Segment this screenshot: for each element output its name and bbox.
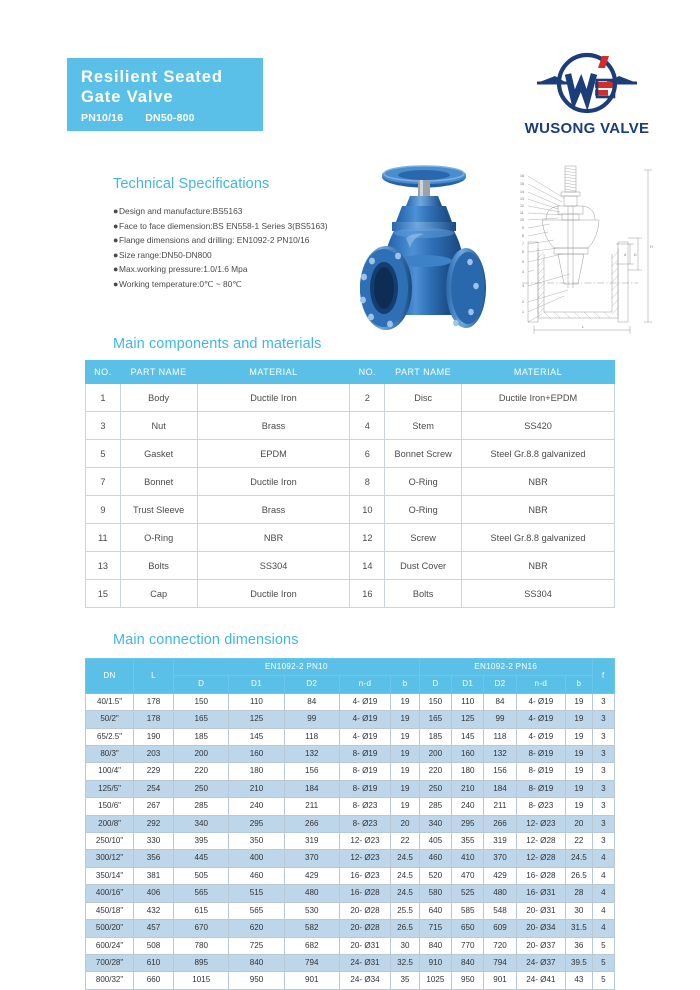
cell-pn16-d2: 429 <box>484 867 516 884</box>
cell-pn16-d2: 609 <box>484 920 516 937</box>
cell-pn16-nd: 20- Ø31 <box>516 902 566 919</box>
title-block: Resilient Seated Gate Valve PN10/16DN50-… <box>67 58 263 131</box>
table-row: 200/8"2923402952668- Ø232034029526612- Ø… <box>86 815 615 832</box>
cell-no-2: 2 <box>350 384 385 412</box>
col-f: f <box>592 659 614 694</box>
svg-text:L: L <box>582 325 584 329</box>
cell-pn16-d1: 650 <box>452 920 484 937</box>
cell-pn16-d2: 132 <box>484 746 516 763</box>
cell-material-1: SS304 <box>197 552 350 580</box>
table-row: 50/2"178165125994- Ø1919165125994- Ø1919… <box>86 711 615 728</box>
cell-pn10-d1: 725 <box>229 937 284 954</box>
cell-material-1: Ductile Iron <box>197 384 350 412</box>
cell-material-1: Ductile Iron <box>197 580 350 608</box>
table-row: 800/32"660101595090124- Ø343510259509012… <box>86 972 615 989</box>
cell-no-2: 4 <box>350 412 385 440</box>
cell-part-1: O-Ring <box>120 524 197 552</box>
table-row: 13BoltsSS30414Dust CoverNBR <box>86 552 615 580</box>
cell-pn16-b: 19 <box>566 798 593 815</box>
cell-pn16-d1: 160 <box>452 746 484 763</box>
cell-material-1: Brass <box>197 412 350 440</box>
list-item: ●Flange dimensions and drilling: EN1092-… <box>113 233 383 248</box>
cell-pn16-d1: 355 <box>452 833 484 850</box>
cell-pn10-nd: 4- Ø19 <box>339 693 390 710</box>
cell-pn10-b: 19 <box>391 693 419 710</box>
cell-pn10-d2: 901 <box>284 972 339 989</box>
spec-text: Design and manufacture:BS5163 <box>119 206 242 216</box>
cell-f: 3 <box>592 693 614 710</box>
cell-dn: 65/2.5" <box>86 728 134 745</box>
cell-f: 3 <box>592 798 614 815</box>
cell-pn16-b: 19 <box>566 763 593 780</box>
cell-pn10-d1: 950 <box>229 972 284 989</box>
section-heading-technical: Technical Specifications <box>113 176 269 192</box>
col-dn: DN <box>86 659 134 694</box>
cell-no-2: 12 <box>350 524 385 552</box>
cell-pn10-d: 505 <box>174 867 229 884</box>
cell-dn: 450/18" <box>86 902 134 919</box>
cell-dn: 40/1.5" <box>86 693 134 710</box>
cell-l: 356 <box>134 850 174 867</box>
table-row: 100/4"2292201801568- Ø19192201801568- Ø1… <box>86 763 615 780</box>
cell-pn16-b: 22 <box>566 833 593 850</box>
table-row: 9Trust SleeveBrass10O-RingNBR <box>86 496 615 524</box>
cell-part-2: Disc <box>385 384 462 412</box>
table-row: 450/18"43261556553020- Ø2825.56405855482… <box>86 902 615 919</box>
cell-dn: 100/4" <box>86 763 134 780</box>
dimensions-table: DN L EN1092-2 PN10 EN1092-2 PN16 f D D1 … <box>85 658 615 990</box>
cell-pn10-b: 20 <box>391 815 419 832</box>
cell-pn10-d1: 565 <box>229 902 284 919</box>
cell-f: 3 <box>592 780 614 797</box>
cell-material-1: EPDM <box>197 440 350 468</box>
table-row: 80/3"2032001601328- Ø19192001601328- Ø19… <box>86 746 615 763</box>
cell-pn16-d: 185 <box>419 728 451 745</box>
cell-part-1: Body <box>120 384 197 412</box>
cell-l: 330 <box>134 833 174 850</box>
cell-pn10-d1: 840 <box>229 954 284 971</box>
cell-l: 254 <box>134 780 174 797</box>
cell-pn10-d: 395 <box>174 833 229 850</box>
cell-no-2: 6 <box>350 440 385 468</box>
cell-no-1: 13 <box>86 552 121 580</box>
cell-pn16-b: 19 <box>566 711 593 728</box>
col-mat-1: MATERIAL <box>197 361 350 384</box>
table-header-row: NO. PART NAME MATERIAL NO. PART NAME MAT… <box>86 361 615 384</box>
list-item: ●Face to face diemension:BS EN558-1 Seri… <box>113 219 383 234</box>
cell-pn10-nd: 12- Ø23 <box>339 833 390 850</box>
table-row: 3NutBrass4StemSS420 <box>86 412 615 440</box>
table-row: 1BodyDuctile Iron2DiscDuctile Iron+EPDM <box>86 384 615 412</box>
cell-pn10-b: 19 <box>391 798 419 815</box>
cell-pn16-d1: 950 <box>452 972 484 989</box>
gate-valve-photo <box>344 160 504 332</box>
cell-pn16-nd: 16- Ø28 <box>516 867 566 884</box>
cell-dn: 250/10" <box>86 833 134 850</box>
cell-pn10-d: 565 <box>174 885 229 902</box>
cell-pn16-d: 150 <box>419 693 451 710</box>
cell-pn16-nd: 8- Ø19 <box>516 763 566 780</box>
cell-pn10-d: 165 <box>174 711 229 728</box>
cell-material-2: Steel Gr.8.8 galvanized <box>462 524 615 552</box>
cell-pn16-nd: 4- Ø19 <box>516 693 566 710</box>
cell-l: 203 <box>134 746 174 763</box>
table-row: 250/10"33039535031912- Ø232240535531912-… <box>86 833 615 850</box>
cell-pn16-b: 39.5 <box>566 954 593 971</box>
cell-no-1: 3 <box>86 412 121 440</box>
cell-l: 381 <box>134 867 174 884</box>
cell-pn10-d2: 582 <box>284 920 339 937</box>
svg-text:H: H <box>650 245 653 249</box>
cell-pn16-d1: 110 <box>452 693 484 710</box>
cell-l: 292 <box>134 815 174 832</box>
cell-f: 3 <box>592 815 614 832</box>
cell-material-2: SS304 <box>462 580 615 608</box>
cell-no-1: 11 <box>86 524 121 552</box>
gate-valve-section-drawing: 1615 1413 1211 109 87 65 43 21 L H D d <box>498 162 656 334</box>
cell-pn10-b: 25.5 <box>391 902 419 919</box>
cell-pn10-d1: 620 <box>229 920 284 937</box>
cell-pn10-b: 26.5 <box>391 920 419 937</box>
svg-text:15: 15 <box>520 182 524 186</box>
cell-dn: 350/14" <box>86 867 134 884</box>
cell-l: 190 <box>134 728 174 745</box>
cell-pn16-d1: 125 <box>452 711 484 728</box>
cell-pn16-b: 19 <box>566 728 593 745</box>
cell-f: 4 <box>592 867 614 884</box>
cell-f: 3 <box>592 763 614 780</box>
cell-pn16-b: 26.5 <box>566 867 593 884</box>
cell-pn10-b: 32.5 <box>391 954 419 971</box>
cell-pn16-nd: 4- Ø19 <box>516 728 566 745</box>
cell-pn16-nd: 24- Ø37 <box>516 954 566 971</box>
cell-material-2: NBR <box>462 468 615 496</box>
svg-text:11: 11 <box>520 211 524 215</box>
cell-pn16-nd: 24- Ø41 <box>516 972 566 989</box>
cell-pn16-nd: 8- Ø23 <box>516 798 566 815</box>
cell-f: 3 <box>592 746 614 763</box>
cell-pn10-d2: 319 <box>284 833 339 850</box>
cell-pn16-d2: 901 <box>484 972 516 989</box>
list-item: ●Working temperature:0℃ ~ 80℃ <box>113 277 383 292</box>
cell-part-2: Screw <box>385 524 462 552</box>
cell-pn10-d: 185 <box>174 728 229 745</box>
cell-part-2: O-Ring <box>385 496 462 524</box>
svg-text:d: d <box>624 253 626 257</box>
cell-dn: 125/5" <box>86 780 134 797</box>
cell-pn16-nd: 20- Ø34 <box>516 920 566 937</box>
cell-pn16-d: 250 <box>419 780 451 797</box>
cell-pn10-b: 30 <box>391 937 419 954</box>
cell-pn10-d: 1015 <box>174 972 229 989</box>
cell-pn16-d: 220 <box>419 763 451 780</box>
cell-no-1: 7 <box>86 468 121 496</box>
product-title-line1: Resilient Seated <box>81 67 263 87</box>
cell-f: 4 <box>592 850 614 867</box>
cell-material-2: Ductile Iron+EPDM <box>462 384 615 412</box>
cell-pn10-d2: 184 <box>284 780 339 797</box>
cell-pn10-d: 895 <box>174 954 229 971</box>
cell-material-2: Steel Gr.8.8 galvanized <box>462 440 615 468</box>
col-l: L <box>134 659 174 694</box>
cell-l: 432 <box>134 902 174 919</box>
cell-f: 3 <box>592 711 614 728</box>
cell-no-1: 5 <box>86 440 121 468</box>
cell-pn16-b: 24.5 <box>566 850 593 867</box>
section-heading-components: Main components and materials <box>113 336 321 352</box>
list-item: ●Design and manufacture:BS5163 <box>113 204 383 219</box>
cell-pn10-d2: 84 <box>284 693 339 710</box>
wusong-circle-w-logo <box>535 52 639 118</box>
cell-pn16-d2: 156 <box>484 763 516 780</box>
svg-text:8: 8 <box>522 234 524 238</box>
technical-spec-list: ●Design and manufacture:BS5163 ●Face to … <box>113 204 383 292</box>
cell-pn10-nd: 16- Ø28 <box>339 885 390 902</box>
list-item: ●Size range:DN50-DN800 <box>113 248 383 263</box>
datasheet-page: Resilient Seated Gate Valve PN10/16DN50-… <box>0 0 700 989</box>
table-row: 40/1.5"178150110844- Ø1919150110844- Ø19… <box>86 693 615 710</box>
cell-pn16-d1: 525 <box>452 885 484 902</box>
cell-pn10-d1: 210 <box>229 780 284 797</box>
spec-text: Flange dimensions and drilling: EN1092-2… <box>119 235 309 245</box>
cell-pn16-nd: 16- Ø31 <box>516 885 566 902</box>
cell-pn10-d2: 480 <box>284 885 339 902</box>
cell-pn10-nd: 20- Ø28 <box>339 902 390 919</box>
cell-pn16-d1: 240 <box>452 798 484 815</box>
cell-pn10-d: 340 <box>174 815 229 832</box>
cell-l: 457 <box>134 920 174 937</box>
cell-pn16-d1: 180 <box>452 763 484 780</box>
brand-logo: WUSONG VALVE <box>513 52 661 148</box>
cell-pn10-d: 445 <box>174 850 229 867</box>
table-row: 700/28"61089584079424- Ø3132.59108407942… <box>86 954 615 971</box>
table-row: 15CapDuctile Iron16BoltsSS304 <box>86 580 615 608</box>
cell-pn16-d: 840 <box>419 937 451 954</box>
col-pn16-nd: n-d <box>516 676 566 693</box>
cell-dn: 150/6" <box>86 798 134 815</box>
cell-f: 3 <box>592 728 614 745</box>
cell-pn10-nd: 4- Ø19 <box>339 711 390 728</box>
svg-text:12: 12 <box>520 204 524 208</box>
cell-pn16-b: 30 <box>566 902 593 919</box>
cell-f: 5 <box>592 972 614 989</box>
cell-pn10-nd: 12- Ø23 <box>339 850 390 867</box>
cell-pn16-d1: 295 <box>452 815 484 832</box>
cell-pn16-d2: 266 <box>484 815 516 832</box>
cell-pn10-b: 19 <box>391 746 419 763</box>
group-pn16: EN1092-2 PN16 <box>419 659 592 676</box>
cell-part-2: O-Ring <box>385 468 462 496</box>
cell-pn10-b: 24.5 <box>391 867 419 884</box>
cell-part-1: Bonnet <box>120 468 197 496</box>
cell-no-2: 8 <box>350 468 385 496</box>
cell-f: 5 <box>592 937 614 954</box>
cell-pn16-b: 28 <box>566 885 593 902</box>
table-row: 5GasketEPDM6Bonnet ScrewSteel Gr.8.8 gal… <box>86 440 615 468</box>
cell-pn10-b: 19 <box>391 711 419 728</box>
col-pn10-d: D <box>174 676 229 693</box>
cell-pn16-d: 285 <box>419 798 451 815</box>
cell-pn10-d1: 125 <box>229 711 284 728</box>
cell-pn16-d1: 210 <box>452 780 484 797</box>
spec-text: Max.working pressure:1.0/1.6 Mpa <box>119 264 247 274</box>
cell-part-1: Trust Sleeve <box>120 496 197 524</box>
cell-pn10-nd: 8- Ø19 <box>339 780 390 797</box>
svg-text:7: 7 <box>522 242 524 246</box>
cell-pn16-d: 405 <box>419 833 451 850</box>
cell-pn16-d2: 211 <box>484 798 516 815</box>
cell-pn16-d: 460 <box>419 850 451 867</box>
cell-pn10-d: 200 <box>174 746 229 763</box>
cell-pn10-d1: 400 <box>229 850 284 867</box>
table-row: 125/5"2542502101848- Ø19192502101848- Ø1… <box>86 780 615 797</box>
cell-pn16-d2: 548 <box>484 902 516 919</box>
cell-pn16-nd: 8- Ø19 <box>516 746 566 763</box>
product-title-line2: Gate Valve <box>81 87 263 107</box>
cell-pn16-b: 31.5 <box>566 920 593 937</box>
cell-pn10-b: 24.5 <box>391 850 419 867</box>
cell-pn10-nd: 8- Ø23 <box>339 798 390 815</box>
cell-pn10-nd: 4- Ø19 <box>339 728 390 745</box>
cell-part-2: Stem <box>385 412 462 440</box>
cell-f: 4 <box>592 902 614 919</box>
cell-pn16-d: 340 <box>419 815 451 832</box>
brand-name: WUSONG VALVE <box>513 120 661 137</box>
cell-pn10-nd: 8- Ø23 <box>339 815 390 832</box>
cell-dn: 500/20" <box>86 920 134 937</box>
cell-pn10-d2: 132 <box>284 746 339 763</box>
cell-pn10-d2: 211 <box>284 798 339 815</box>
svg-text:14: 14 <box>520 190 524 194</box>
cell-dn: 400/16" <box>86 885 134 902</box>
col-pn16-b: b <box>566 676 593 693</box>
section-heading-dimensions: Main connection dimensions <box>113 632 299 648</box>
cell-pn10-d1: 240 <box>229 798 284 815</box>
table-row: 65/2.5"1901851451184- Ø19191851451184- Ø… <box>86 728 615 745</box>
cell-pn16-d: 910 <box>419 954 451 971</box>
svg-text:6: 6 <box>522 250 524 254</box>
cell-pn10-nd: 8- Ø19 <box>339 746 390 763</box>
cell-pn10-b: 19 <box>391 728 419 745</box>
cell-no-2: 16 <box>350 580 385 608</box>
cell-l: 508 <box>134 937 174 954</box>
cell-pn16-d: 200 <box>419 746 451 763</box>
cell-pn16-b: 19 <box>566 746 593 763</box>
cell-pn16-d: 165 <box>419 711 451 728</box>
cell-pn10-d: 220 <box>174 763 229 780</box>
cell-pn16-d1: 585 <box>452 902 484 919</box>
svg-text:2: 2 <box>522 300 524 304</box>
cell-material-1: Ductile Iron <box>197 468 350 496</box>
cell-pn16-nd: 12- Ø23 <box>516 815 566 832</box>
cell-pn16-d2: 184 <box>484 780 516 797</box>
cell-pn16-d: 580 <box>419 885 451 902</box>
svg-text:D: D <box>634 253 637 257</box>
cell-pn16-b: 36 <box>566 937 593 954</box>
cell-part-2: Dust Cover <box>385 552 462 580</box>
spec-text: Working temperature:0℃ ~ 80℃ <box>119 279 242 289</box>
cell-material-1: Brass <box>197 496 350 524</box>
cell-pn10-b: 24.5 <box>391 885 419 902</box>
col-no-2: NO. <box>350 361 385 384</box>
svg-text:1: 1 <box>522 310 524 314</box>
col-pn10-d2: D2 <box>284 676 339 693</box>
cell-dn: 50/2" <box>86 711 134 728</box>
cell-pn16-d: 715 <box>419 920 451 937</box>
cell-pn10-d2: 118 <box>284 728 339 745</box>
cell-f: 4 <box>592 885 614 902</box>
cell-pn10-nd: 16- Ø23 <box>339 867 390 884</box>
table-row: 150/6"2672852402118- Ø23192852402118- Ø2… <box>86 798 615 815</box>
table-row: 400/16"40656551548016- Ø2824.55805254801… <box>86 885 615 902</box>
col-no-1: NO. <box>86 361 121 384</box>
components-table: NO. PART NAME MATERIAL NO. PART NAME MAT… <box>85 360 615 608</box>
cell-no-2: 10 <box>350 496 385 524</box>
cell-pn16-d: 640 <box>419 902 451 919</box>
svg-text:9: 9 <box>522 226 524 230</box>
cell-pn10-d1: 145 <box>229 728 284 745</box>
cell-pn10-nd: 20- Ø28 <box>339 920 390 937</box>
col-pn10-d1: D1 <box>229 676 284 693</box>
cell-pn16-d2: 370 <box>484 850 516 867</box>
cell-f: 3 <box>592 833 614 850</box>
cell-pn10-b: 35 <box>391 972 419 989</box>
cell-pn10-nd: 20- Ø31 <box>339 937 390 954</box>
cell-f: 5 <box>592 954 614 971</box>
cell-dn: 200/8" <box>86 815 134 832</box>
cell-material-2: NBR <box>462 496 615 524</box>
table-header-row-group: DN L EN1092-2 PN10 EN1092-2 PN16 f <box>86 659 615 676</box>
svg-text:10: 10 <box>520 218 524 222</box>
cell-pn16-d1: 470 <box>452 867 484 884</box>
svg-text:16: 16 <box>520 174 524 178</box>
cell-no-1: 1 <box>86 384 121 412</box>
cell-no-1: 15 <box>86 580 121 608</box>
cell-pn10-d2: 99 <box>284 711 339 728</box>
svg-text:3: 3 <box>522 284 524 288</box>
col-part-2: PART NAME <box>385 361 462 384</box>
cell-pn16-b: 19 <box>566 780 593 797</box>
col-pn16-d: D <box>419 676 451 693</box>
cell-pn10-d2: 370 <box>284 850 339 867</box>
cell-pn10-d2: 530 <box>284 902 339 919</box>
cell-pn10-d1: 110 <box>229 693 284 710</box>
cell-pn16-d1: 770 <box>452 937 484 954</box>
cell-f: 4 <box>592 920 614 937</box>
cell-pn10-d: 615 <box>174 902 229 919</box>
svg-text:13: 13 <box>520 197 524 201</box>
cell-pn16-d1: 410 <box>452 850 484 867</box>
cell-pn16-d2: 84 <box>484 693 516 710</box>
cell-material-2: NBR <box>462 552 615 580</box>
cell-pn10-nd: 24- Ø34 <box>339 972 390 989</box>
cell-pn16-nd: 12- Ø28 <box>516 850 566 867</box>
product-rating: PN10/16DN50-800 <box>81 112 263 124</box>
table-row: 11O-RingNBR12ScrewSteel Gr.8.8 galvanize… <box>86 524 615 552</box>
cell-l: 178 <box>134 693 174 710</box>
svg-text:4: 4 <box>522 270 524 274</box>
cell-part-1: Nut <box>120 412 197 440</box>
cell-pn16-nd: 20- Ø37 <box>516 937 566 954</box>
cell-material-2: SS420 <box>462 412 615 440</box>
cell-pn16-d2: 118 <box>484 728 516 745</box>
list-item: ●Max.working pressure:1.0/1.6 Mpa <box>113 262 383 277</box>
cell-part-2: Bonnet Screw <box>385 440 462 468</box>
cell-part-2: Bolts <box>385 580 462 608</box>
cell-pn10-d1: 460 <box>229 867 284 884</box>
col-mat-2: MATERIAL <box>462 361 615 384</box>
group-pn10: EN1092-2 PN10 <box>174 659 420 676</box>
